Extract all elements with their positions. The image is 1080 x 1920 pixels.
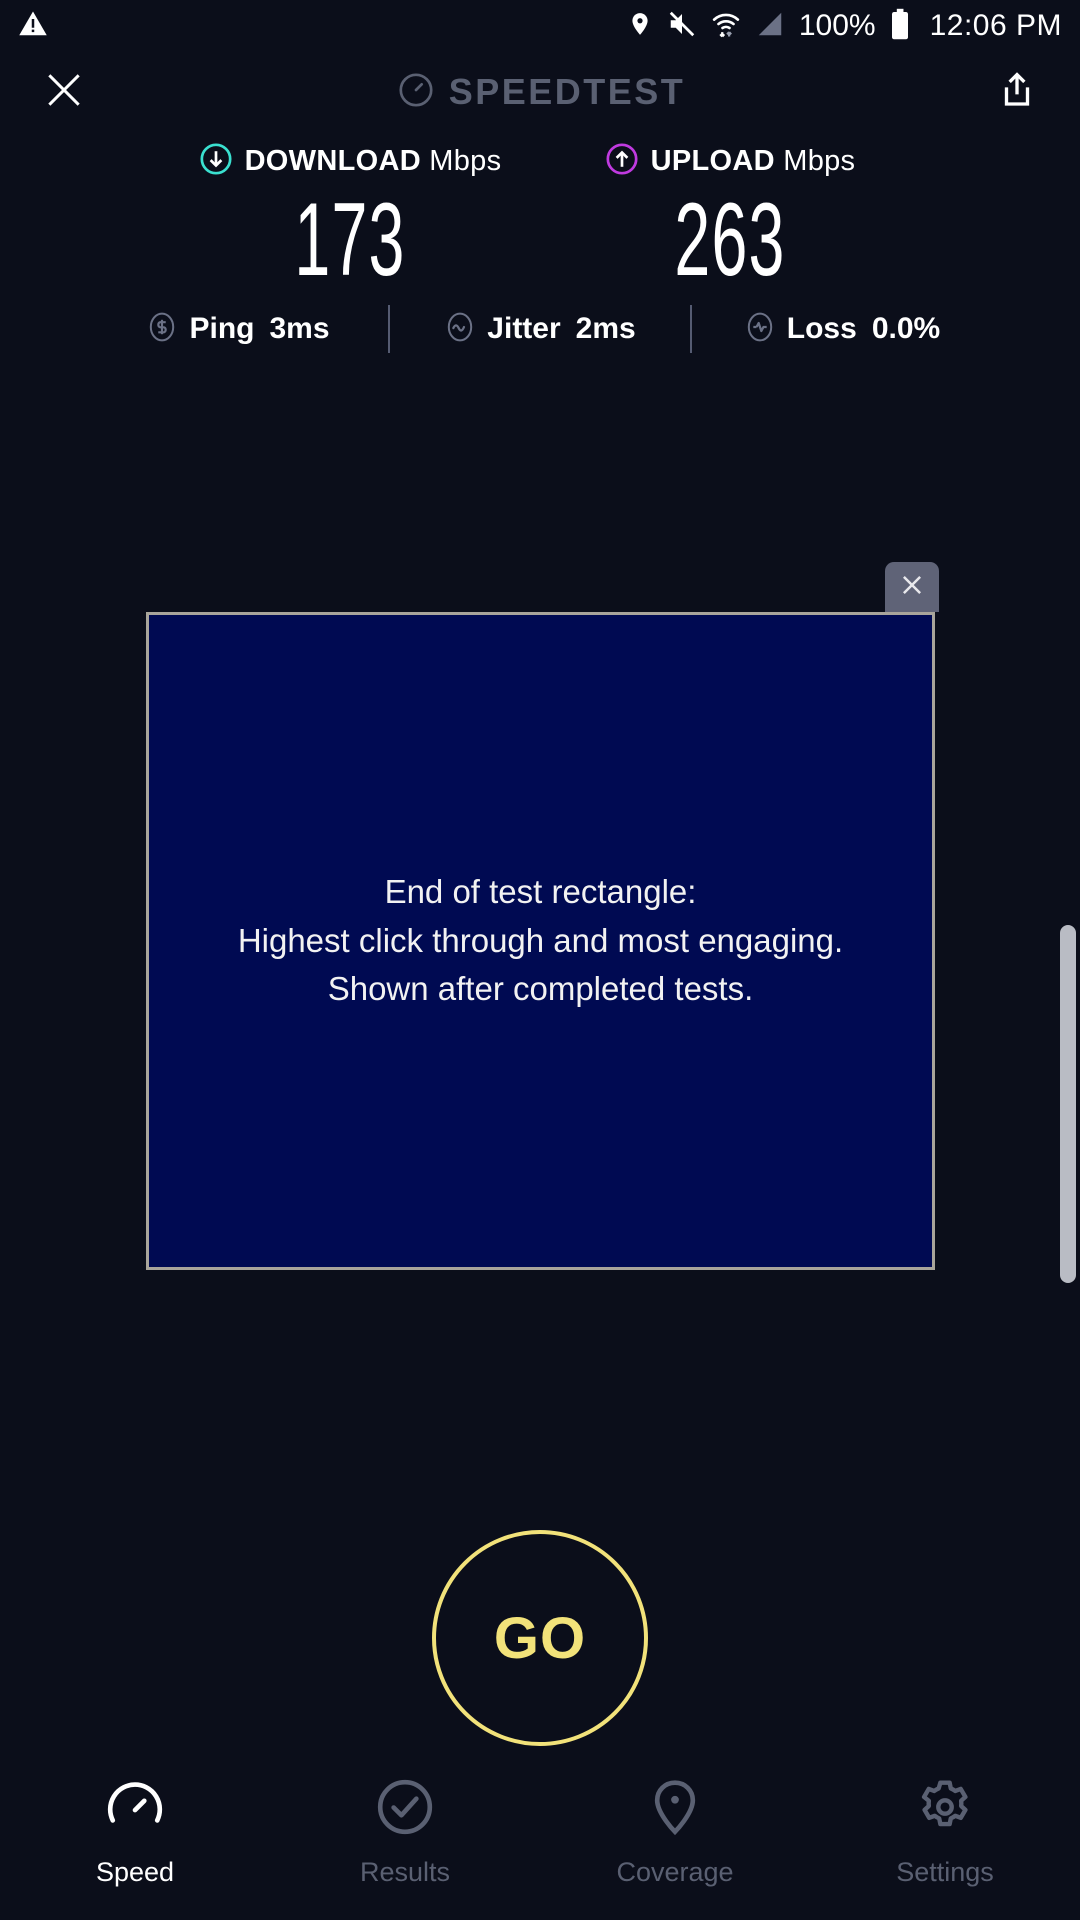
status-bar-clock: 12:06 PM (930, 9, 1062, 43)
upload-arrow-icon (605, 142, 639, 181)
metric-loss-value: 0.0% (872, 312, 940, 346)
status-bar-left (18, 9, 48, 44)
upload-value: 263 (612, 188, 848, 292)
metric-jitter-label: Jitter (487, 312, 560, 346)
bottom-navigation-bar: Speed Results Coverage Settings (0, 1760, 1080, 1920)
download-arrow-icon (199, 142, 233, 181)
download-value: 173 (232, 188, 468, 292)
go-button-label: GO (494, 1605, 586, 1672)
ping-icon (146, 311, 178, 348)
results-summary: DOWNLOAD Mbps 173 UPLOAD Mbps 263 (0, 140, 1080, 292)
upload-label: UPLOAD Mbps (651, 145, 856, 178)
nav-item-coverage[interactable]: Coverage (540, 1776, 810, 1888)
nav-label-settings: Settings (896, 1857, 994, 1888)
metric-ping-value: 3ms (269, 312, 329, 346)
speedtest-app-screen: 100% 12:06 PM SPEEDTEST (0, 0, 1080, 1920)
metric-jitter-value: 2ms (576, 312, 636, 346)
nav-label-coverage: Coverage (616, 1857, 733, 1888)
metric-ping-label: Ping (189, 312, 254, 346)
speedometer-icon (397, 71, 435, 114)
wifi-icon (711, 9, 741, 44)
speedometer-icon (104, 1776, 166, 1843)
nav-label-results: Results (360, 1857, 450, 1888)
nav-label-speed: Speed (96, 1857, 174, 1888)
nav-item-speed[interactable]: Speed (0, 1776, 270, 1888)
nav-item-results[interactable]: Results (270, 1776, 540, 1888)
location-pin-icon (627, 9, 653, 44)
mute-icon (667, 9, 697, 44)
ad-close-button[interactable] (885, 562, 939, 612)
advertisement-banner[interactable]: End of test rectangle: Highest click thr… (146, 612, 935, 1270)
battery-full-icon (890, 8, 910, 45)
status-bar: 100% 12:06 PM (0, 0, 1080, 52)
upload-result: UPLOAD Mbps 263 (540, 140, 920, 292)
status-bar-right: 100% 12:06 PM (627, 8, 1062, 45)
metric-ping: Ping 3ms (88, 311, 388, 348)
vertical-scrollbar[interactable] (1060, 925, 1076, 1283)
download-header: DOWNLOAD Mbps (160, 140, 540, 182)
cellular-signal-icon (755, 9, 785, 44)
upload-header: UPLOAD Mbps (540, 140, 920, 182)
app-title: SPEEDTEST (449, 71, 686, 113)
metric-jitter: Jitter 2ms (390, 311, 690, 348)
warning-triangle-icon (18, 9, 48, 44)
ad-text: End of test rectangle: Highest click thr… (238, 868, 843, 1014)
battery-percent-label: 100% (799, 9, 876, 43)
speed-results-row: DOWNLOAD Mbps 173 UPLOAD Mbps 263 (0, 140, 1080, 292)
nav-item-settings[interactable]: Settings (810, 1776, 1080, 1888)
network-metrics-row: Ping 3ms Jitter 2ms Loss 0.0% (0, 300, 1080, 358)
app-header: SPEEDTEST (0, 52, 1080, 132)
download-label: DOWNLOAD Mbps (245, 145, 502, 178)
jitter-icon (444, 311, 476, 348)
download-result: DOWNLOAD Mbps 173 (160, 140, 540, 292)
go-button[interactable]: GO (432, 1530, 648, 1746)
share-icon[interactable] (996, 69, 1038, 116)
metric-loss: Loss 0.0% (692, 311, 992, 348)
gear-icon (914, 1776, 976, 1843)
metric-loss-label: Loss (787, 312, 857, 346)
location-pin-icon (644, 1776, 706, 1843)
brand-logo: SPEEDTEST (397, 71, 686, 114)
close-icon[interactable] (42, 68, 86, 117)
ad-close-icon (897, 570, 927, 605)
check-circle-icon (374, 1776, 436, 1843)
loss-icon (744, 311, 776, 348)
